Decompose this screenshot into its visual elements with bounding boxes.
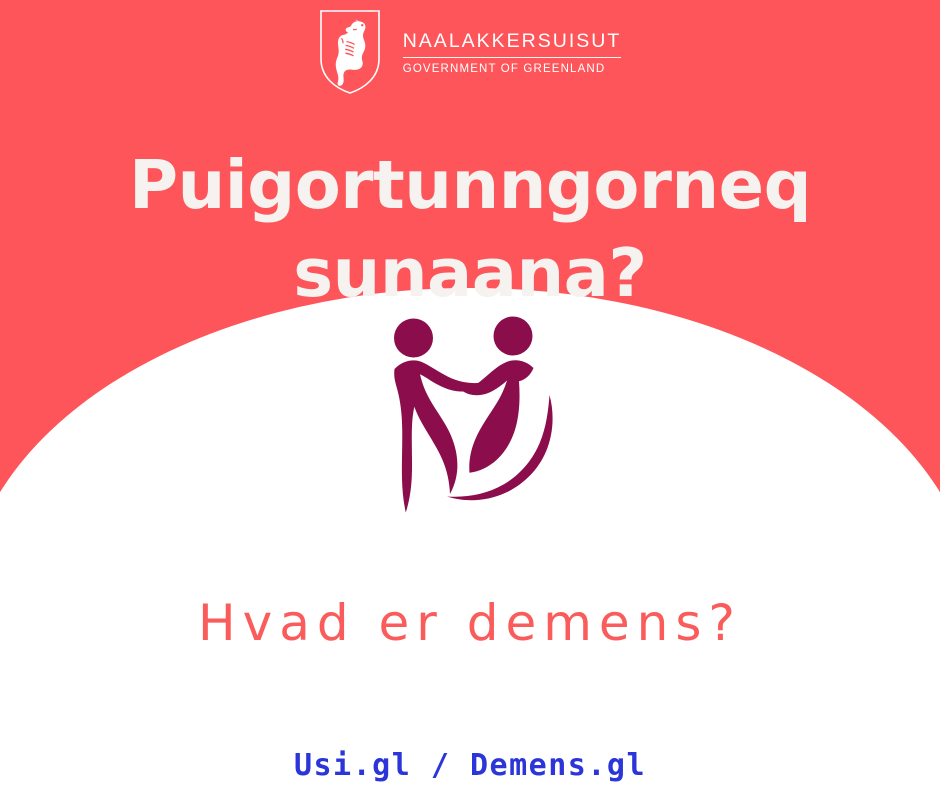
two-people-helping-hands-icon: [370, 305, 570, 530]
page-title-line-1: Puigortunngorneq: [20, 141, 920, 229]
government-logo: NAALAKKERSUISUT GOVERNMENT OF GREENLAND: [0, 6, 940, 98]
wordmark-sub-text: GOVERNMENT OF GREENLAND: [403, 63, 606, 75]
wordmark-divider: [403, 57, 622, 58]
coat-of-arms-shield-icon: [319, 9, 381, 95]
subtitle-danish: Hvad er demens?: [0, 592, 940, 654]
government-wordmark: NAALAKKERSUISUT GOVERNMENT OF GREENLAND: [403, 29, 622, 75]
wordmark-main-text: NAALAKKERSUISUT: [403, 31, 622, 51]
poster-canvas: NAALAKKERSUISUT GOVERNMENT OF GREENLAND …: [0, 0, 940, 788]
page-title-line-2: sunaana?: [20, 229, 920, 317]
footer-urls[interactable]: Usi.gl / Demens.gl: [0, 748, 940, 784]
page-title: Puigortunngorneq sunaana?: [0, 141, 940, 317]
